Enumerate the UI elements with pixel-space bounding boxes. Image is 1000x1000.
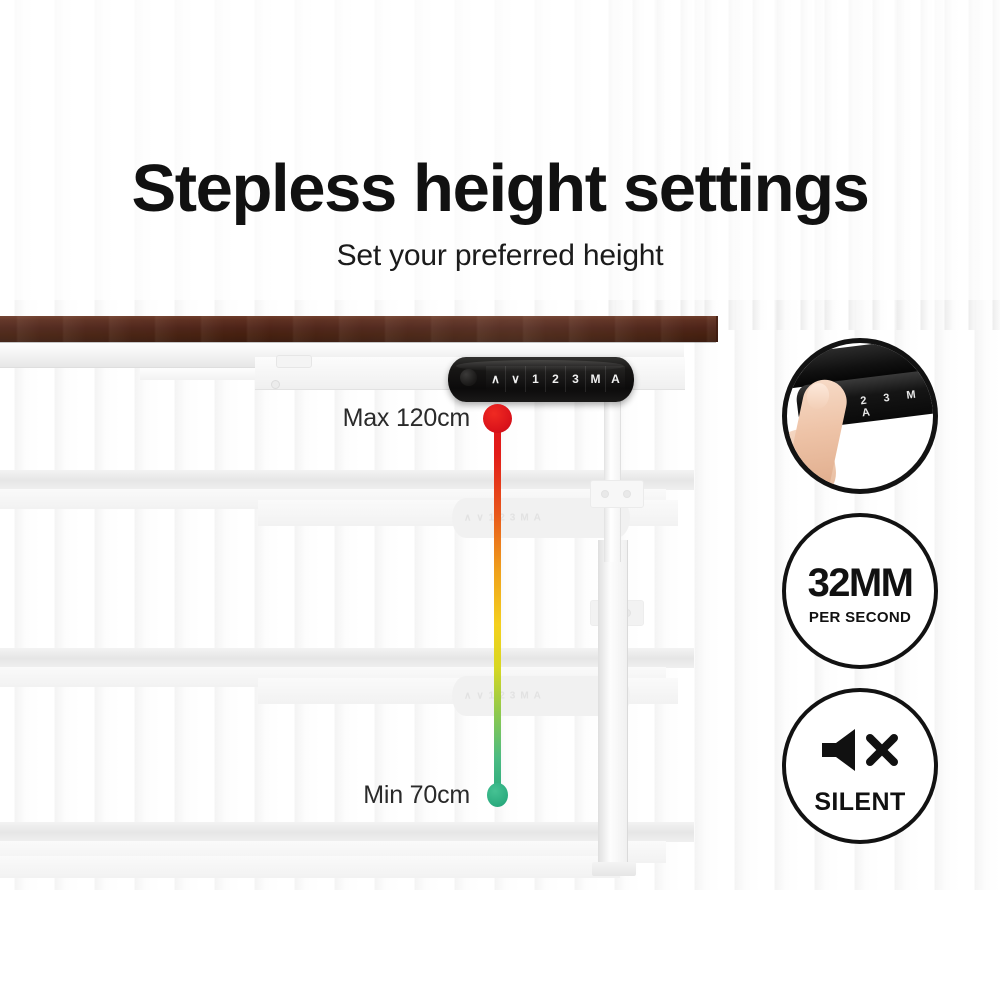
speed-unit: PER SECOND (786, 609, 934, 626)
badge-silent-operation: SILENT (782, 688, 938, 844)
key-memory[interactable]: M (586, 366, 606, 392)
control-panel-knob (460, 369, 477, 386)
key-down-icon[interactable]: ∨ (506, 366, 526, 392)
speed-value: 32MM (786, 561, 934, 606)
max-height-marker-dot (483, 404, 512, 433)
desk-leg-bracket (590, 480, 644, 508)
key-preset-2[interactable]: 2 (546, 366, 566, 392)
speaker-mute-icon (786, 726, 934, 779)
badge-lift-speed: 32MM PER SECOND (782, 513, 938, 669)
min-height-label: Min 70cm (150, 781, 470, 810)
control-panel-keys[interactable]: ∧ ∨ 1 2 3 M A (486, 366, 625, 392)
background-wash-bottom (0, 890, 1000, 1000)
height-control-panel[interactable]: ∧ ∨ 1 2 3 M A (448, 357, 634, 402)
min-height-marker-dot (487, 783, 508, 807)
desk-apron-screw (271, 380, 280, 389)
desk-cable-notch (276, 355, 312, 368)
key-preset-1[interactable]: 1 (526, 366, 546, 392)
leg-bracket-screw (601, 490, 609, 498)
key-auto[interactable]: A (606, 366, 625, 392)
desk-top-woodgrain (0, 316, 716, 342)
leg-bracket-screw (623, 490, 631, 498)
badge-touch-control-photo: 2 3 M A (782, 338, 938, 494)
page-title: Stepless height settings (0, 155, 1000, 222)
page-subtitle: Set your preferred height (0, 239, 1000, 273)
silent-label: SILENT (786, 788, 934, 817)
key-up-icon[interactable]: ∧ (486, 366, 506, 392)
desk-leg-foot (592, 862, 636, 876)
desk-top-surface (0, 316, 716, 342)
key-preset-3[interactable]: 3 (566, 366, 586, 392)
height-range-gradient-bar (494, 416, 501, 796)
desk-leg-lower-column (598, 540, 628, 870)
max-height-label: Max 120cm (150, 404, 470, 433)
product-feature-graphic: ∧∨123MA ∧∨123MA ∧ ∨ 1 2 3 M (0, 0, 1000, 1000)
